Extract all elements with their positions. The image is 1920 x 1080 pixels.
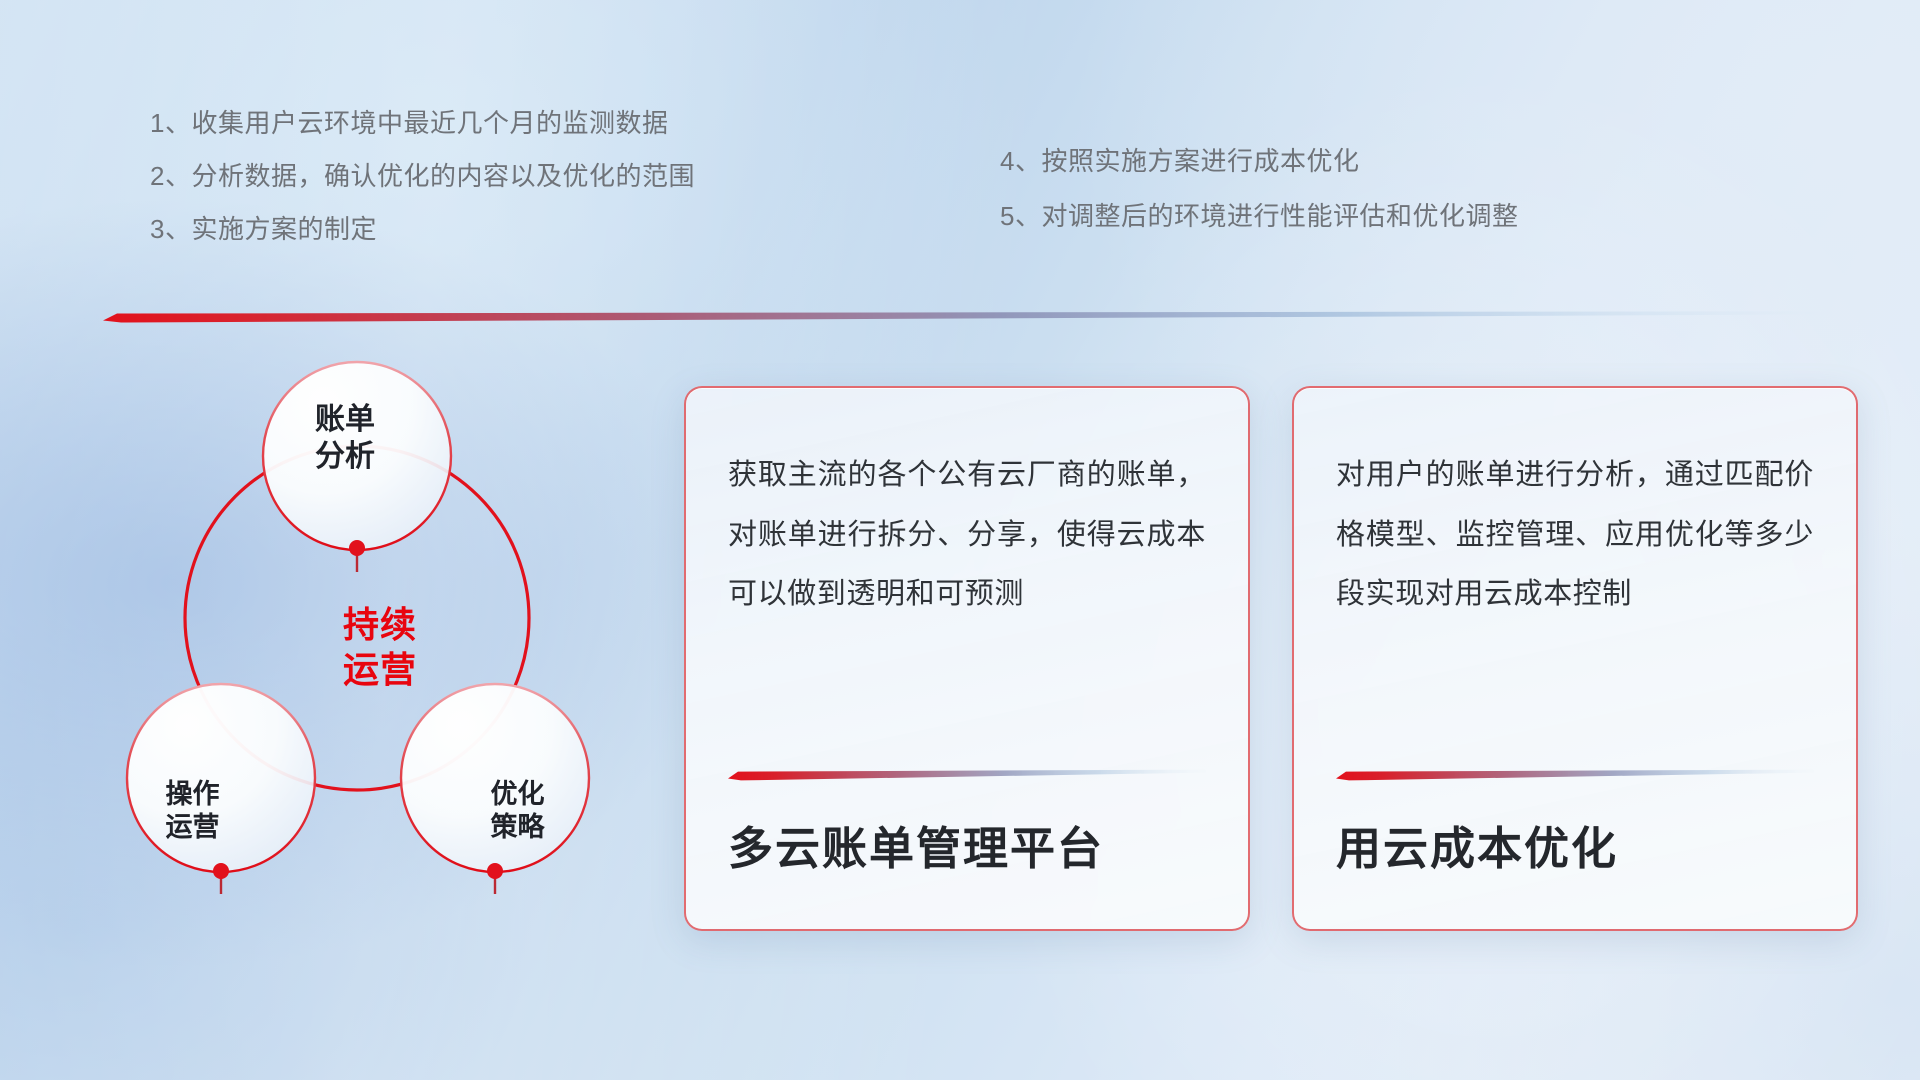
info-card[interactable]: 对用户的账单进行分析，通过匹配价格模型、监控管理、应用优化等多少段实现对用云成本… bbox=[1292, 386, 1858, 931]
step-item: 5、对调整后的环境进行性能评估和优化调整 bbox=[1000, 203, 1518, 229]
section-divider-graphic bbox=[103, 311, 1833, 323]
info-card-body: 获取主流的各个公有云厂商的账单，对账单进行拆分、分享，使得云成本可以做到透明和可… bbox=[728, 446, 1206, 625]
venn-node-top bbox=[349, 540, 365, 556]
slide-canvas: 1、收集用户云环境中最近几个月的监测数据 2、分析数据，确认优化的内容以及优化的… bbox=[0, 0, 1920, 1080]
step-item: 4、按照实施方案进行成本优化 bbox=[1000, 148, 1518, 174]
venn-diagram bbox=[95, 350, 655, 950]
venn-bubble-right bbox=[401, 684, 589, 872]
info-card-title: 用云成本优化 bbox=[1336, 824, 1814, 874]
info-card-divider-graphic bbox=[1336, 769, 1814, 781]
venn-bubble-top bbox=[263, 362, 451, 550]
step-item: 3、实施方案的制定 bbox=[150, 216, 695, 242]
venn-node-right bbox=[487, 863, 503, 879]
info-card-divider bbox=[1336, 768, 1814, 780]
venn-node-left bbox=[213, 863, 229, 879]
venn-bubble-left bbox=[127, 684, 315, 872]
info-card-title: 多云账单管理平台 bbox=[728, 824, 1206, 874]
step-item: 1、收集用户云环境中最近几个月的监测数据 bbox=[150, 110, 695, 136]
info-card-divider-graphic bbox=[728, 769, 1206, 781]
info-card-body: 对用户的账单进行分析，通过匹配价格模型、监控管理、应用优化等多少段实现对用云成本… bbox=[1336, 446, 1814, 625]
info-card[interactable]: 获取主流的各个公有云厂商的账单，对账单进行拆分、分享，使得云成本可以做到透明和可… bbox=[684, 386, 1250, 931]
section-divider bbox=[103, 310, 1833, 322]
venn-diagram-graphic bbox=[95, 350, 655, 950]
info-card-divider bbox=[728, 768, 1206, 780]
step-item: 2、分析数据，确认优化的内容以及优化的范围 bbox=[150, 163, 695, 189]
steps-list-right: 4、按照实施方案进行成本优化 5、对调整后的环境进行性能评估和优化调整 bbox=[1000, 148, 1518, 258]
steps-list-left: 1、收集用户云环境中最近几个月的监测数据 2、分析数据，确认优化的内容以及优化的… bbox=[150, 110, 695, 269]
